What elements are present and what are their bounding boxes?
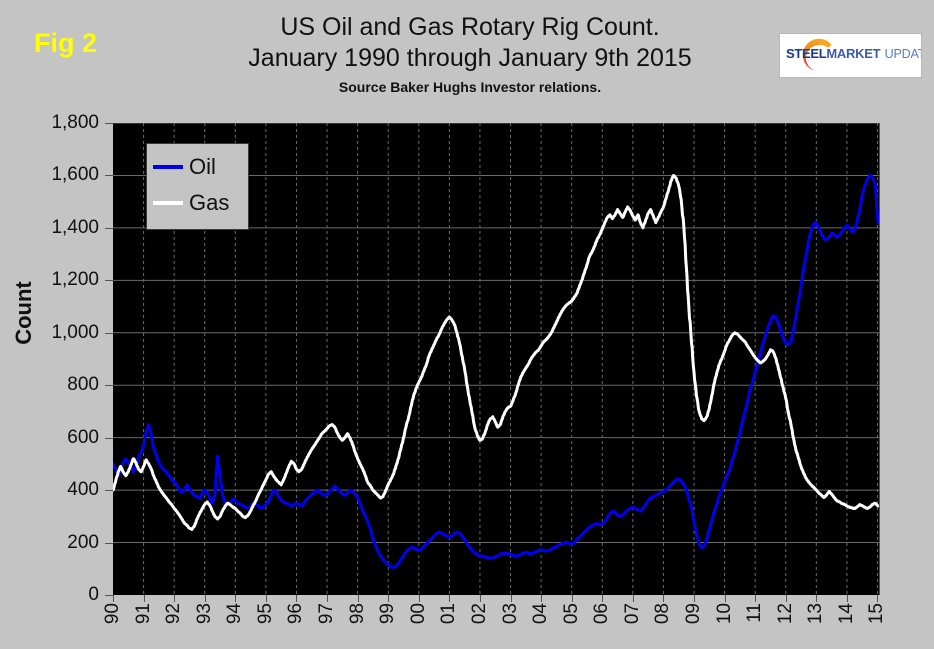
x-tick-mark xyxy=(449,595,450,602)
x-tick-mark xyxy=(205,595,206,602)
x-tick-mark xyxy=(113,595,114,602)
x-tick-mark xyxy=(633,595,634,602)
series-line-oil xyxy=(113,175,878,567)
y-tick-mark xyxy=(105,175,113,176)
x-tick-label: 15 xyxy=(867,603,886,624)
x-tick-label: 13 xyxy=(806,603,825,624)
y-tick-label: 800 xyxy=(9,374,99,396)
x-tick-label: 97 xyxy=(317,603,336,624)
logo-word-steel: STEEL xyxy=(786,46,826,61)
x-tick-mark xyxy=(327,595,328,602)
x-tick-mark xyxy=(419,595,420,602)
y-tick-label: 1,800 xyxy=(9,112,99,134)
x-tick-label: 06 xyxy=(592,603,611,624)
x-tick-mark xyxy=(235,595,236,602)
legend-label-oil: Oil xyxy=(189,156,216,178)
x-tick-mark xyxy=(572,595,573,602)
logo-word-update: UPDATE xyxy=(885,47,922,61)
x-axis-ticks: 9091929394959697989900010203040506070809… xyxy=(113,595,883,649)
x-tick-label: 14 xyxy=(837,603,856,624)
logo-word-market: MARKET xyxy=(826,46,880,61)
x-tick-label: 01 xyxy=(439,603,458,624)
y-tick-mark xyxy=(105,280,113,281)
x-tick-mark xyxy=(663,595,664,602)
x-tick-mark xyxy=(847,595,848,602)
x-tick-mark xyxy=(877,595,878,602)
y-tick-mark xyxy=(105,385,113,386)
x-tick-mark xyxy=(266,595,267,602)
y-tick-mark xyxy=(105,333,113,334)
x-tick-mark xyxy=(144,595,145,602)
x-tick-label: 05 xyxy=(562,603,581,624)
x-tick-label: 08 xyxy=(653,603,672,624)
x-tick-mark xyxy=(602,595,603,602)
y-tick-label: 1,000 xyxy=(9,322,99,344)
y-tick-mark xyxy=(105,228,113,229)
legend-item-gas: Gas xyxy=(153,188,245,218)
y-tick-label: 0 xyxy=(9,584,99,606)
x-tick-mark xyxy=(480,595,481,602)
legend-item-oil: Oil xyxy=(153,152,245,182)
x-tick-mark xyxy=(296,595,297,602)
y-tick-label: 600 xyxy=(9,427,99,449)
x-tick-mark xyxy=(786,595,787,602)
x-tick-label: 10 xyxy=(715,603,734,624)
x-tick-label: 03 xyxy=(501,603,520,624)
x-tick-mark xyxy=(816,595,817,602)
chart-source-subtitle: Source Baker Hughs Investor relations. xyxy=(160,77,780,97)
x-tick-label: 95 xyxy=(256,603,275,624)
y-tick-mark xyxy=(105,543,113,544)
chart-title-line-2: January 1990 through January 9th 2015 xyxy=(160,43,780,74)
x-tick-label: 92 xyxy=(164,603,183,624)
x-tick-mark xyxy=(388,595,389,602)
legend-swatch-gas xyxy=(153,201,183,205)
legend-swatch-oil xyxy=(153,165,183,169)
logo-wordmark: STEELMARKET UPDATE xyxy=(786,46,919,62)
x-tick-mark xyxy=(755,595,756,602)
x-tick-label: 09 xyxy=(684,603,703,624)
x-tick-label: 00 xyxy=(409,603,428,624)
x-tick-mark xyxy=(358,595,359,602)
x-tick-label: 94 xyxy=(225,603,244,624)
x-tick-label: 02 xyxy=(470,603,489,624)
x-tick-mark xyxy=(725,595,726,602)
chart-legend: Oil Gas xyxy=(146,143,249,230)
chart-title-line-1: US Oil and Gas Rotary Rig Count. xyxy=(160,12,780,43)
y-tick-label: 1,400 xyxy=(9,217,99,239)
legend-label-gas: Gas xyxy=(189,192,229,214)
x-tick-mark xyxy=(174,595,175,602)
y-axis-ticks: 02004006008001,0001,2001,4001,6001,800 xyxy=(0,0,113,649)
y-tick-mark xyxy=(105,490,113,491)
y-tick-label: 400 xyxy=(9,479,99,501)
x-tick-label: 04 xyxy=(531,603,550,624)
x-tick-label: 96 xyxy=(286,603,305,624)
x-tick-label: 91 xyxy=(134,603,153,624)
x-tick-label: 98 xyxy=(348,603,367,624)
y-tick-label: 200 xyxy=(9,532,99,554)
chart-title-block: US Oil and Gas Rotary Rig Count. January… xyxy=(160,12,780,97)
figure-root: Fig 2 US Oil and Gas Rotary Rig Count. J… xyxy=(0,0,934,649)
x-tick-label: 90 xyxy=(103,603,122,624)
y-tick-label: 1,200 xyxy=(9,269,99,291)
steel-market-update-logo: STEELMARKET UPDATE xyxy=(779,33,922,78)
y-tick-label: 1,600 xyxy=(9,164,99,186)
y-tick-mark xyxy=(105,438,113,439)
x-tick-label: 99 xyxy=(378,603,397,624)
x-tick-mark xyxy=(541,595,542,602)
x-tick-label: 07 xyxy=(623,603,642,624)
x-tick-label: 93 xyxy=(195,603,214,624)
x-tick-label: 12 xyxy=(776,603,795,624)
x-tick-label: 11 xyxy=(745,603,764,623)
y-tick-mark xyxy=(105,595,113,596)
y-tick-mark xyxy=(105,123,113,124)
x-tick-mark xyxy=(511,595,512,602)
x-tick-mark xyxy=(694,595,695,602)
